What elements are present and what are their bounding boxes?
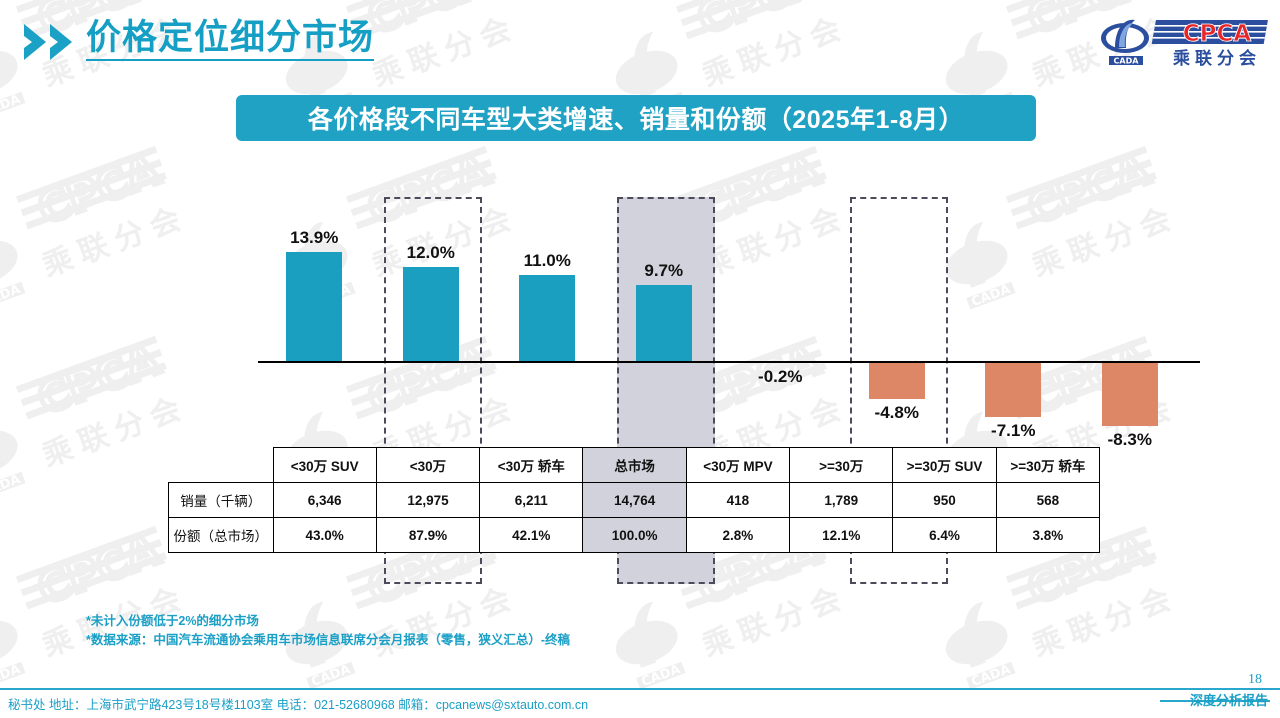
bar-chart: 13.9%12.0%11.0%9.7%-0.2%-4.8%-7.1%-8.3%	[168, 180, 1100, 460]
svg-text:CADA: CADA	[309, 662, 352, 690]
table-cell-1-6: 6.4%	[893, 518, 996, 553]
bar-label-4: -0.2%	[735, 367, 825, 387]
table-cell-0-7: 568	[996, 483, 1099, 518]
svg-text:CADA: CADA	[0, 282, 23, 310]
table-header-cell-2: <30万 轿车	[480, 448, 583, 483]
bar-1	[403, 267, 459, 361]
svg-text:乘联分会: 乘联分会	[1028, 579, 1183, 664]
table-cell-0-3: 14,764	[583, 483, 686, 518]
svg-text:乘联分会: 乘联分会	[1172, 48, 1261, 69]
table-cell-0-5: 1,789	[790, 483, 893, 518]
svg-text:CPCA: CPCA	[1183, 21, 1252, 47]
table-header-cell-1: <30万	[376, 448, 479, 483]
table-cell-1-7: 3.8%	[996, 518, 1099, 553]
table-cell-0-0: 6,346	[273, 483, 376, 518]
page-number: 18	[1248, 672, 1262, 688]
table-header-cell-0: <30万 SUV	[273, 448, 376, 483]
table-header-cell-4: <30万 MPV	[686, 448, 789, 483]
chart-zero-axis	[258, 361, 1200, 363]
bar-label-5: -4.8%	[852, 403, 942, 423]
bar-7	[1102, 361, 1158, 426]
bar-6	[985, 361, 1041, 417]
table-cell-1-4: 2.8%	[686, 518, 789, 553]
bar-label-0: 13.9%	[269, 228, 359, 248]
svg-text:CADA: CADA	[1114, 57, 1140, 66]
svg-text:CPCA: CPCA	[31, 335, 166, 424]
table-header-cell-6: >=30万 SUV	[893, 448, 996, 483]
table-header-cell-5: >=30万	[790, 448, 893, 483]
table-cell-1-2: 42.1%	[480, 518, 583, 553]
svg-text:CADA: CADA	[969, 662, 1012, 690]
section-banner-text: 各价格段不同车型大类增速、销量和份额（2025年1-8月）	[308, 100, 964, 136]
table-row: 销量（千辆） 6,346 12,975 6,211 14,764 418 1,7…	[169, 483, 1100, 518]
slide-header: 价格定位细分市场 CADA CPCA 乘联分会	[0, 0, 1280, 84]
table-row: 份额（总市场） 43.0% 87.9% 42.1% 100.0% 2.8% 12…	[169, 518, 1100, 553]
svg-text:CPCA: CPCA	[31, 145, 166, 234]
bar-5	[869, 361, 925, 399]
table-cell-1-0: 43.0%	[273, 518, 376, 553]
footer-report-label: 深度分析报告	[1190, 690, 1268, 709]
svg-text:CADA: CADA	[0, 472, 23, 500]
table-header-cell-3: 总市场	[583, 448, 686, 483]
footnote-line-1: *未计入份额低于2%的细分市场	[86, 612, 570, 631]
page-title: 价格定位细分市场	[86, 18, 374, 61]
svg-text:乘联分会: 乘联分会	[698, 579, 853, 664]
table-cell-1-1: 87.9%	[376, 518, 479, 553]
table-header-cell-7: >=30万 轿车	[996, 448, 1099, 483]
footer-divider	[0, 688, 1280, 690]
svg-text:CADA: CADA	[0, 92, 23, 120]
footer-contact: 秘书处 地址：上海市武宁路423号18号楼1103室 电话：021-526809…	[8, 694, 588, 713]
footnote-line-2: *数据来源：中国汽车流通协会乘用车市场信息联席分会月报表（零售，狭义汇总）-终稿	[86, 631, 570, 650]
bar-label-1: 12.0%	[386, 243, 476, 263]
section-banner: 各价格段不同车型大类增速、销量和份额（2025年1-8月）	[236, 95, 1036, 141]
svg-text:CADA: CADA	[0, 662, 23, 690]
table-row-label-1: 份额（总市场）	[169, 518, 274, 553]
bar-2	[519, 275, 575, 361]
data-table: <30万 SUV <30万 <30万 轿车 总市场 <30万 MPV >=30万…	[168, 447, 1100, 553]
table-header-row: <30万 SUV <30万 <30万 轿车 总市场 <30万 MPV >=30万…	[169, 448, 1100, 483]
table-cell-1-3: 100.0%	[583, 518, 686, 553]
cpca-logo: CADA CPCA 乘联分会	[1095, 14, 1270, 70]
table-cell-0-2: 6,211	[480, 483, 583, 518]
bar-label-2: 11.0%	[502, 251, 592, 271]
table-corner-cell	[169, 448, 274, 483]
bar-0	[286, 252, 342, 361]
svg-text:CADA: CADA	[639, 662, 682, 690]
table-cell-0-1: 12,975	[376, 483, 479, 518]
table-cell-0-6: 950	[893, 483, 996, 518]
bar-label-6: -7.1%	[968, 421, 1058, 441]
footnotes: *未计入份额低于2%的细分市场 *数据来源：中国汽车流通协会乘用车市场信息联席分…	[86, 612, 570, 651]
table-cell-1-5: 12.1%	[790, 518, 893, 553]
double-chevron-right-icon	[22, 22, 84, 62]
table-cell-0-4: 418	[686, 483, 789, 518]
bar-label-3: 9.7%	[619, 261, 709, 281]
table-row-label-0: 销量（千辆）	[169, 483, 274, 518]
bar-3	[636, 285, 692, 361]
svg-text:CPCA: CPCA	[31, 525, 166, 614]
